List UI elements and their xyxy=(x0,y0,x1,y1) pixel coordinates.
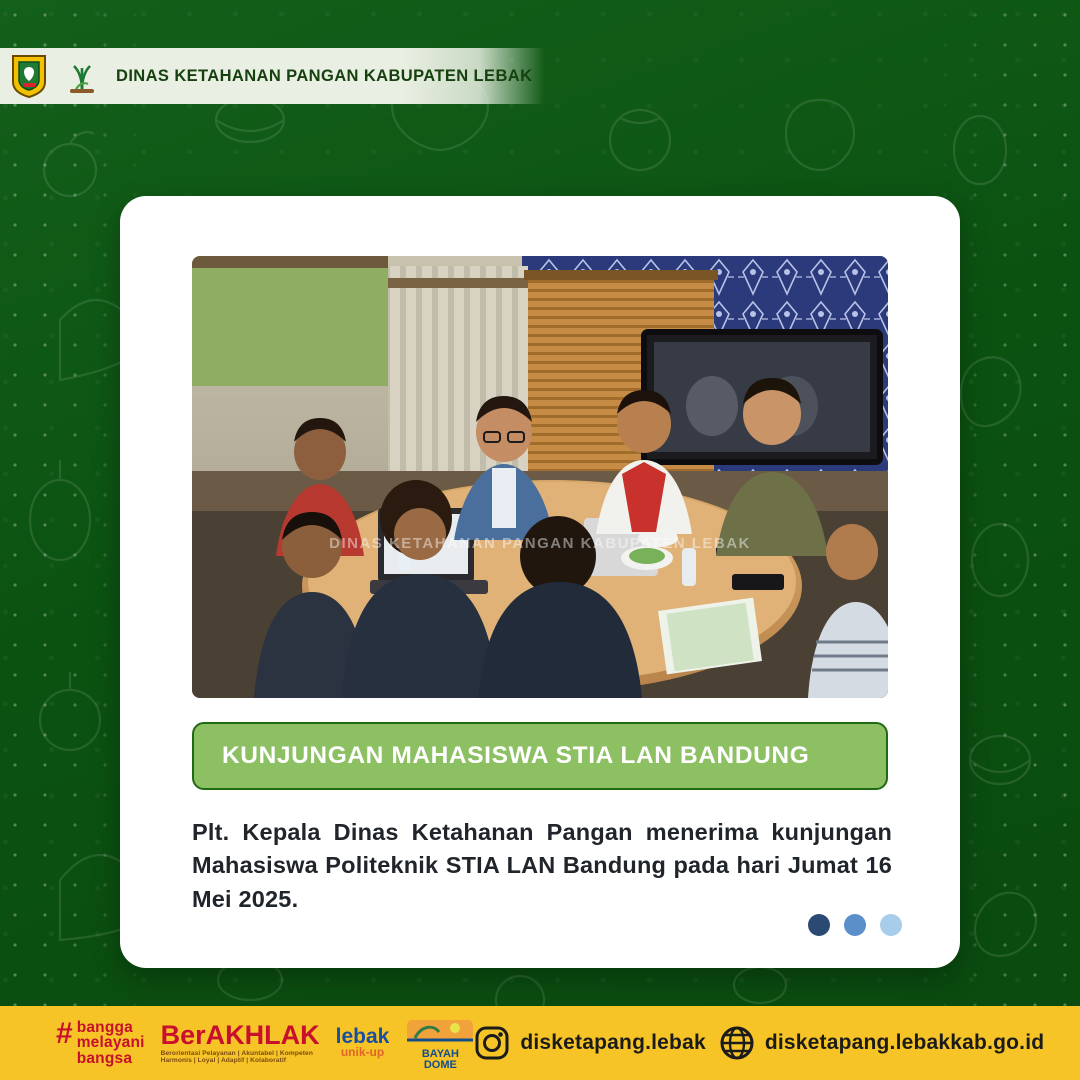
lebak-unikup-logo: lebak unik-up xyxy=(336,1027,390,1058)
plant-leaf-icon xyxy=(62,56,102,96)
header-title: DINAS KETAHANAN PANGAN KABUPATEN LEBAK xyxy=(116,67,532,86)
bayah-dome-icon xyxy=(405,1016,475,1046)
hashtag-symbol: # xyxy=(56,1020,73,1048)
caption-text: Plt. Kepala Dinas Ketahanan Pangan mener… xyxy=(192,816,892,916)
bangga-melayani-bangsa-logo: # bangga melayani bangsa xyxy=(56,1020,145,1067)
bangga-line-1: bangga xyxy=(77,1020,145,1036)
svg-text:DINAS KETAHANAN PANGAN KABUPA: DINAS KETAHANAN PANGAN KABUPATEN LEBAK xyxy=(329,535,751,552)
instagram-contact[interactable]: disketapang.lebak xyxy=(475,1026,705,1060)
footer-contacts: disketapang.lebak disketapang.lebakkab.g… xyxy=(475,1026,1080,1060)
bayah-dome-label: BAYAH DOME xyxy=(422,1048,459,1071)
unikup-label: unik-up xyxy=(336,1047,390,1058)
headline-text: KUNJUNGAN MAHASISWA STIA LAN BANDUNG xyxy=(222,742,809,770)
carousel-dot-1[interactable] xyxy=(808,914,830,936)
header-bar: DINAS KETAHANAN PANGAN KABUPATEN LEBAK xyxy=(0,48,545,104)
instagram-icon xyxy=(475,1026,509,1060)
headline-banner: KUNJUNGAN MAHASISWA STIA LAN BANDUNG xyxy=(192,722,888,790)
carousel-dot-2[interactable] xyxy=(844,914,866,936)
globe-icon xyxy=(720,1026,754,1060)
website-url: disketapang.lebakkab.go.id xyxy=(765,1031,1044,1055)
berakhlak-label: BerAKHLAK xyxy=(161,1020,320,1050)
carousel-pagination[interactable] xyxy=(808,914,902,936)
content-card: DINAS KETAHANAN PANGAN KABUPATEN LEBAK D… xyxy=(120,196,960,968)
bangga-line-3: bangsa xyxy=(77,1051,145,1067)
regency-crest-icon xyxy=(10,54,48,98)
bayah-dome-logo: BAYAH DOME xyxy=(405,1016,475,1071)
footer-logos: # bangga melayani bangsa BerAKHLAK Beror… xyxy=(0,1016,475,1071)
berakhlak-logo: BerAKHLAK Berorientasi Pelayanan | Akunt… xyxy=(161,1022,320,1064)
website-contact[interactable]: disketapang.lebakkab.go.id xyxy=(720,1026,1044,1060)
bangga-line-2: melayani xyxy=(77,1035,145,1051)
meeting-photo: DINAS KETAHANAN PANGAN KABUPATEN LEBAK D… xyxy=(192,256,888,698)
footer-bar: # bangga melayani bangsa BerAKHLAK Beror… xyxy=(0,1006,1080,1080)
carousel-dot-3[interactable] xyxy=(880,914,902,936)
poster-root: DINAS KETAHANAN PANGAN KABUPATEN LEBAK xyxy=(0,0,1080,1080)
berakhlak-subtitle: Berorientasi Pelayanan | Akuntabel | Kom… xyxy=(161,1051,320,1064)
instagram-handle: disketapang.lebak xyxy=(520,1031,705,1055)
